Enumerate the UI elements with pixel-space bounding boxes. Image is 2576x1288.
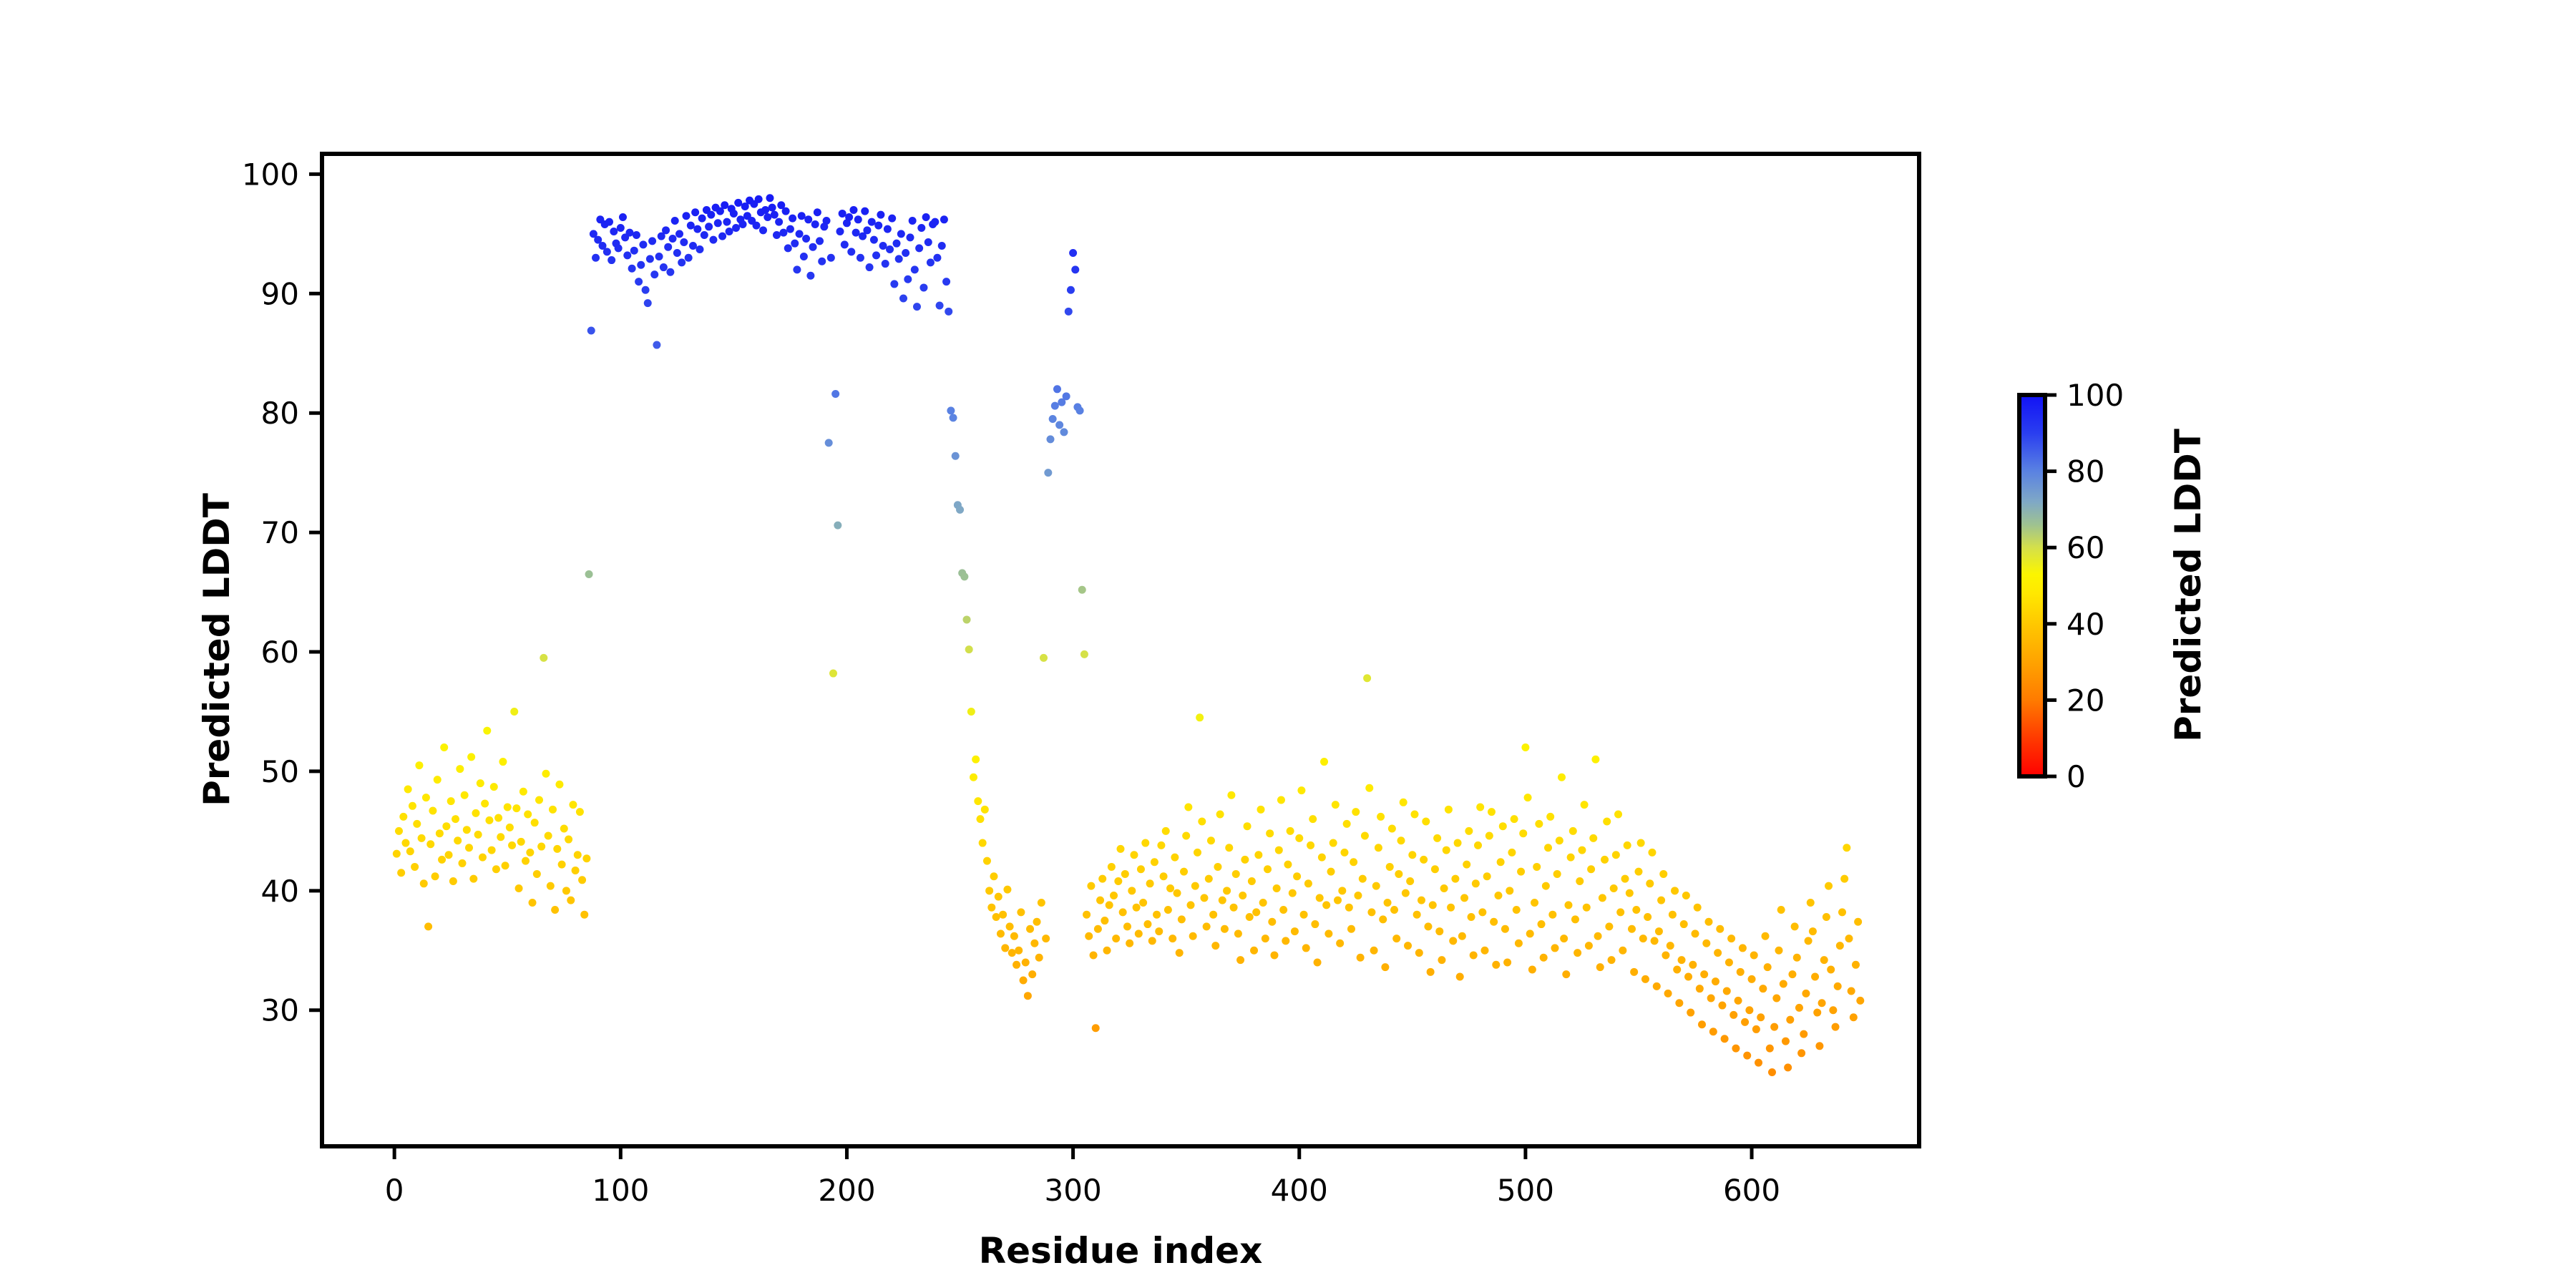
scatter-point [1574, 949, 1581, 957]
scatter-point [789, 215, 796, 223]
scatter-point [806, 272, 814, 280]
scatter-point [429, 806, 436, 814]
scatter-point [1384, 899, 1392, 907]
scatter-point [1770, 1023, 1778, 1031]
scatter-point [1076, 406, 1084, 414]
scatter-point [1051, 402, 1059, 410]
scatter-point [1680, 920, 1688, 928]
scatter-point [431, 872, 439, 880]
scatter-point [1702, 940, 1710, 947]
scatter-point [1440, 884, 1448, 892]
plot-area-frame [322, 154, 1919, 1146]
scatter-point [592, 254, 600, 262]
scatter-point [1291, 927, 1299, 935]
scatter-point [1363, 674, 1371, 682]
scatter-point [730, 210, 738, 218]
scatter-point [1198, 818, 1206, 826]
scatter-point [1449, 937, 1457, 945]
scatter-point [1443, 847, 1450, 854]
scatter-point [1669, 911, 1677, 919]
scatter-point [680, 238, 688, 246]
scatter-point [1320, 758, 1328, 766]
scatter-point [452, 815, 459, 823]
scatter-point [474, 831, 482, 839]
scatter-point [1155, 927, 1163, 935]
scatter-point [857, 254, 864, 262]
scatter-point [1511, 815, 1518, 823]
scatter-point [1162, 827, 1170, 835]
scatter-point [1689, 961, 1697, 969]
scatter-point [1248, 877, 1256, 885]
scatter-point [1340, 849, 1348, 857]
scatter-point [1646, 879, 1654, 887]
scatter-point [1017, 908, 1025, 916]
scatter-point [927, 258, 935, 266]
scatter-point [1148, 937, 1156, 945]
scatter-point [447, 797, 455, 805]
scatter-point [1490, 918, 1498, 926]
scatter-point [816, 237, 824, 245]
scatter-point [1176, 949, 1184, 957]
scatter-point [553, 845, 561, 853]
scatter-point [1624, 841, 1631, 849]
scatter-point [1370, 947, 1378, 955]
scatter-point [1114, 877, 1122, 885]
scatter-point [1128, 887, 1136, 894]
scatter-point [683, 212, 691, 220]
scatter-point [696, 245, 703, 253]
scatter-point [1560, 935, 1568, 942]
scatter-point [1386, 863, 1394, 871]
scatter-point [537, 843, 545, 851]
scatter-point [531, 819, 539, 826]
scatter-point [1775, 947, 1782, 955]
figure-canvas: 0100200300400500600 30405060708090100 Re… [0, 0, 2576, 1288]
scatter-point [1795, 1004, 1803, 1012]
scatter-point [1010, 932, 1018, 940]
scatter-points-group [393, 194, 1864, 1076]
scatter-point [1662, 951, 1669, 959]
scatter-point [1196, 713, 1204, 721]
scatter-point [1601, 856, 1609, 864]
scatter-point [1700, 970, 1708, 978]
x-axis-label: Residue index [979, 1230, 1263, 1272]
scatter-point [726, 228, 733, 235]
scatter-point [1234, 930, 1242, 937]
scatter-point [461, 791, 469, 799]
scatter-point [1445, 806, 1453, 814]
scatter-point [1535, 820, 1543, 828]
scatter-point [1619, 947, 1626, 955]
scatter-point [675, 230, 683, 238]
scatter-point [1832, 1023, 1840, 1031]
scatter-point [1698, 1020, 1706, 1028]
scatter-point [1519, 829, 1527, 837]
scatter-point [1818, 999, 1826, 1007]
scatter-point [1117, 845, 1125, 853]
scatter-point [1840, 875, 1848, 883]
scatter-point [1766, 1045, 1774, 1053]
scatter-point [800, 253, 808, 260]
scatter-point [1033, 918, 1041, 926]
scatter-point [1392, 935, 1400, 942]
scatter-point [1078, 586, 1086, 594]
scatter-point [1257, 806, 1265, 814]
scatter-point [1578, 847, 1586, 854]
scatter-point [465, 844, 473, 852]
scatter-point [938, 242, 946, 250]
scatter-point [1488, 808, 1496, 816]
scatter-point [705, 223, 713, 230]
scatter-point [555, 781, 563, 789]
scatter-point [1745, 1006, 1753, 1014]
scatter-point [1581, 801, 1589, 809]
x-tick-label: 200 [818, 1173, 875, 1208]
scatter-point [1110, 892, 1118, 899]
scatter-point [1716, 925, 1724, 933]
scatter-point [1435, 927, 1443, 935]
scatter-point [983, 857, 991, 865]
scatter-point [1189, 932, 1197, 940]
scatter-point [1063, 392, 1070, 400]
scatter-point [913, 303, 921, 311]
scatter-point [1157, 841, 1165, 849]
scatter-point [1533, 863, 1541, 871]
scatter-point [1388, 825, 1396, 833]
scatter-point [1682, 892, 1690, 899]
scatter-point [1678, 956, 1686, 964]
scatter-point [1610, 884, 1618, 892]
scatter-point [1632, 906, 1640, 914]
scatter-point [1470, 951, 1478, 959]
scatter-point [685, 254, 693, 262]
scatter-point [526, 849, 534, 857]
scatter-point [630, 247, 638, 255]
scatter-point [974, 797, 982, 805]
scatter-point [845, 213, 853, 221]
scatter-point [572, 867, 580, 874]
scatter-point [721, 201, 728, 209]
scatter-point [617, 224, 625, 232]
scatter-point [426, 840, 434, 848]
scatter-point [1375, 844, 1382, 852]
scatter-point [517, 838, 525, 846]
scatter-point [1456, 972, 1464, 980]
scatter-point [1314, 958, 1322, 966]
scatter-point [981, 806, 989, 814]
scatter-point [1225, 844, 1233, 852]
scatter-point [608, 256, 615, 264]
scatter-point [967, 708, 975, 716]
scatter-point [1254, 851, 1262, 859]
scatter-point [1214, 863, 1221, 871]
scatter-point [1515, 940, 1523, 947]
scatter-point [924, 238, 932, 246]
scatter-point [1820, 956, 1828, 964]
colorbar-tick-label: 20 [2067, 683, 2104, 718]
scatter-point [945, 308, 952, 316]
scatter-point [1151, 858, 1158, 866]
scatter-point [422, 794, 430, 801]
scatter-point [1673, 965, 1681, 973]
scatter-point [529, 899, 537, 907]
scatter-point [739, 220, 747, 228]
scatter-point [1687, 1009, 1694, 1017]
colorbar-tick-label: 0 [2067, 759, 2086, 794]
scatter-point [1692, 930, 1699, 937]
y-tick-label: 70 [261, 515, 299, 550]
scatter-point [454, 836, 462, 844]
scatter-point [1293, 872, 1301, 880]
scatter-point [804, 215, 812, 223]
scatter-point [1090, 951, 1098, 959]
scatter-point [524, 811, 532, 819]
scatter-point [965, 645, 973, 653]
scatter-point [1044, 469, 1052, 477]
scatter-point [701, 231, 708, 239]
scatter-point [1395, 870, 1402, 878]
scatter-point [1420, 856, 1428, 864]
scatter-point [784, 244, 792, 252]
scatter-point [1334, 897, 1342, 904]
colorbar-tick-label: 60 [2067, 530, 2104, 565]
scatter-point [1042, 935, 1050, 942]
scatter-point [976, 815, 984, 823]
scatter-point [779, 229, 787, 237]
scatter-point [972, 756, 980, 763]
scatter-point [1153, 911, 1161, 919]
scatter-point [565, 836, 572, 844]
scatter-point [1458, 932, 1466, 940]
scatter-point [852, 229, 860, 237]
scatter-point [1463, 861, 1470, 869]
y-tick-label: 30 [261, 993, 299, 1028]
scatter-point [1022, 958, 1030, 966]
scatter-point [1551, 944, 1559, 952]
scatter-point [985, 887, 993, 894]
scatter-point [1793, 954, 1801, 962]
scatter-point [687, 222, 695, 230]
scatter-point [508, 841, 516, 849]
scatter-point [963, 615, 971, 623]
scatter-point [1338, 887, 1346, 894]
scatter-point [942, 278, 950, 286]
scatter-point [1576, 877, 1584, 885]
scatter-point [947, 406, 955, 414]
scatter-point [761, 206, 769, 214]
scatter-point [637, 261, 645, 269]
scatter-point [1053, 385, 1061, 393]
y-axis-label: Predicted LDDT [196, 493, 238, 806]
scatter-point [793, 265, 801, 273]
scatter-point [753, 222, 761, 230]
scatter-point [582, 854, 590, 862]
scatter-point [404, 785, 412, 793]
scatter-point [1506, 887, 1513, 894]
scatter-point [1424, 922, 1432, 930]
scatter-point [1121, 870, 1129, 878]
scatter-point [488, 847, 496, 854]
scatter-point [1026, 925, 1034, 933]
scatter-point [1737, 968, 1745, 976]
scatter-point [1782, 1038, 1790, 1045]
scatter-point [1024, 992, 1032, 1000]
scatter-point [673, 249, 681, 257]
scatter-point [1603, 818, 1611, 826]
scatter-point [512, 804, 520, 812]
scatter-point [653, 341, 660, 349]
scatter-point [1103, 947, 1111, 955]
scatter-point [533, 870, 541, 878]
scatter-point [551, 906, 559, 914]
scatter-point [1823, 913, 1830, 921]
scatter-point [1216, 811, 1224, 819]
scatter-point [1413, 911, 1421, 919]
scatter-point [1309, 815, 1317, 823]
scatter-point [1587, 865, 1595, 873]
scatter-point [1275, 847, 1283, 854]
scatter-point [519, 788, 527, 796]
scatter-point [879, 242, 887, 250]
scatter-point [1667, 942, 1674, 950]
scatter-point [1433, 834, 1441, 842]
scatter-point [1589, 834, 1597, 842]
scatter-point [1270, 951, 1278, 959]
scatter-point [1707, 995, 1715, 1002]
scatter-point [1106, 901, 1113, 909]
scatter-point [952, 452, 960, 460]
scatter-point [1135, 930, 1143, 937]
scatter-point [1843, 844, 1850, 852]
colorbar-tick-label: 40 [2067, 607, 2104, 642]
scatter-point [456, 765, 464, 773]
scatter-point [1397, 836, 1405, 844]
scatter-point [1209, 911, 1217, 919]
scatter-point [1497, 858, 1505, 866]
scatter-point [562, 887, 570, 894]
scatter-point [1141, 839, 1149, 847]
scatter-point [1780, 980, 1787, 988]
scatter-point [635, 278, 643, 286]
scatter-point [1289, 889, 1297, 897]
scatter-point [829, 670, 837, 678]
x-tick-label: 500 [1497, 1173, 1554, 1208]
scatter-point [485, 816, 493, 824]
scatter-point [401, 839, 409, 847]
scatter-point [1735, 997, 1742, 1005]
scatter-point [1739, 944, 1747, 952]
colorbar-tick-label: 100 [2067, 378, 2124, 413]
scatter-point [950, 414, 957, 421]
scatter-point [580, 911, 588, 919]
scatter-point [691, 208, 699, 216]
scatter-point [1429, 901, 1437, 909]
scatter-point [1096, 897, 1104, 904]
scatter-point [1478, 908, 1486, 916]
scatter-point [1080, 650, 1088, 658]
scatter-point [809, 243, 817, 251]
scatter-point [409, 802, 416, 810]
scatter-point [1755, 1059, 1762, 1067]
scatter-point [849, 206, 857, 214]
scatter-point [890, 280, 898, 288]
scatter-point [1621, 875, 1629, 883]
scatter-point [1542, 882, 1550, 890]
scatter-point [1006, 922, 1014, 930]
scatter-point [1108, 863, 1116, 871]
scatter-point [897, 230, 905, 238]
scatter-point [1531, 899, 1538, 907]
scatter-point [1098, 875, 1106, 883]
scatter-point [1596, 963, 1604, 971]
scatter-point [1137, 865, 1145, 873]
scatter-point [413, 820, 421, 828]
scatter-point [904, 275, 912, 283]
scatter-point [1359, 875, 1367, 883]
scatter-point [615, 244, 623, 252]
scatter-point [1415, 949, 1423, 957]
scatter-point [1807, 899, 1815, 907]
scatter-point [644, 299, 652, 307]
scatter-point [1544, 844, 1552, 852]
scatter-point [1028, 970, 1036, 978]
scatter-point [406, 847, 414, 855]
scatter-point [1377, 813, 1385, 821]
scatter-point [861, 208, 869, 215]
scatter-point [576, 808, 584, 816]
scatter-point [814, 208, 821, 216]
scatter-point [1664, 990, 1672, 997]
scatter-point [1800, 1030, 1807, 1038]
scatter-point [1759, 985, 1767, 992]
scatter-point [775, 218, 783, 226]
scatter-point [1427, 968, 1435, 976]
scatter-point [999, 911, 1007, 919]
scatter-point [854, 215, 862, 223]
scatter-point [1264, 865, 1272, 873]
scatter-point [1827, 965, 1835, 973]
scatter-point [872, 251, 880, 259]
scatter-point [1232, 870, 1240, 878]
scatter-point [1651, 937, 1659, 945]
scatter-point [1725, 958, 1733, 966]
scatter-point [619, 213, 627, 221]
scatter-point [560, 825, 568, 833]
scatter-point [987, 904, 995, 912]
scatter-point [1786, 1016, 1794, 1024]
scatter-point [1259, 899, 1267, 907]
scatter-point [1241, 856, 1249, 864]
scatter-point [1809, 927, 1817, 935]
scatter-point [839, 210, 847, 218]
scatter-point [1732, 1045, 1740, 1053]
scatter-point [1829, 1006, 1837, 1014]
scatter-point [693, 225, 701, 233]
scatter-point [1112, 935, 1120, 942]
scatter-point [445, 851, 453, 859]
scatter-point [1350, 858, 1357, 866]
scatter-point [970, 774, 977, 781]
scatter-point [440, 743, 448, 751]
scatter-point [669, 235, 677, 243]
scatter-point [1277, 796, 1285, 804]
scatter-point [902, 249, 909, 257]
scatter-point [1287, 827, 1294, 835]
scatter-point [1123, 922, 1131, 930]
scatter-point [605, 218, 613, 226]
scatter-point [1049, 415, 1057, 423]
scatter-point [1503, 958, 1511, 966]
